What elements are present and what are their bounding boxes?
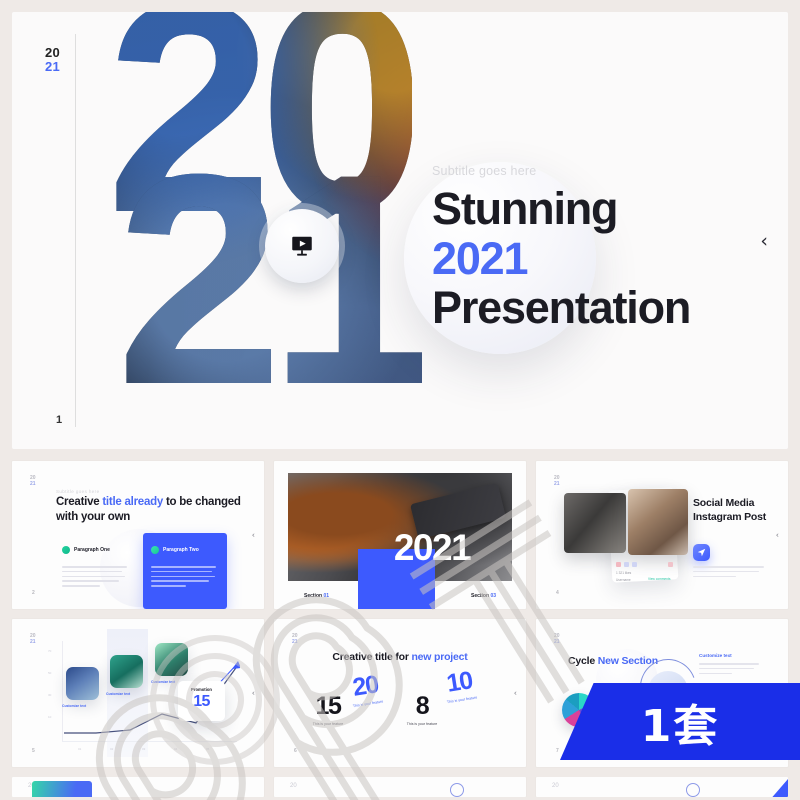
bullet-dot-icon: [151, 546, 159, 554]
hero-text-block: Subtitle goes here Stunning 2021 Present…: [432, 164, 762, 333]
hero-year-mark: 20 21: [45, 46, 60, 73]
card-heading: Paragraph Two: [163, 547, 199, 553]
chart-x-tick: 03: [142, 747, 145, 751]
chart-callout-card: Promotion 15: [178, 681, 225, 721]
hero-subtitle: Subtitle goes here: [432, 164, 762, 178]
slide-year-mark: 20 21: [30, 634, 36, 645]
hero-title-accent: 2021: [432, 234, 762, 284]
stat-caption: This is your feature: [400, 722, 444, 726]
slide-body-lines: [693, 566, 765, 580]
slide-title-part-a: Creative: [56, 496, 102, 508]
slide-prev-arrow-icon[interactable]: ‹: [514, 689, 517, 698]
slide-year-bottom: 21: [554, 640, 560, 646]
slide-title: Cycle New Section: [568, 655, 658, 669]
section-left-number: 01: [323, 593, 329, 599]
slide-eyebrow: Subtitle goes here: [56, 489, 99, 494]
slide-year-mark: 20 21: [292, 634, 298, 645]
comment-icon: [624, 562, 629, 567]
post-view-comments-link[interactable]: View comments: [648, 577, 670, 581]
slide-prev-arrow-icon[interactable]: ‹: [252, 531, 255, 540]
stat-value: 20: [342, 672, 389, 702]
chart-x-tick: 05: [206, 747, 209, 751]
post-likes: 1 321 likes: [616, 571, 631, 575]
slide-growth-chart[interactable]: 20 21 70 50 30 10 01 02 03 04 05: [12, 619, 264, 767]
hero-year-top: 20: [45, 46, 60, 60]
hero-title: Stunning 2021 Presentation: [432, 184, 762, 333]
chart-x-tick: 02: [110, 747, 113, 751]
slide-next-row-c[interactable]: 20: [536, 777, 788, 797]
slide-body-lines: [699, 663, 761, 677]
ring-shape: [686, 783, 700, 797]
hero-year-bottom: 21: [45, 60, 60, 74]
paragraph-card-two[interactable]: Paragraph Two: [143, 533, 227, 609]
blue-corner-shape: [762, 779, 788, 797]
hero-title-line-1: Stunning: [432, 184, 762, 234]
share-icon: [632, 562, 637, 567]
stat-value: 8: [400, 695, 444, 719]
post-action-icons: [616, 562, 676, 567]
chart-thumb-3: [155, 643, 188, 676]
hero-title-line-3: Presentation: [432, 283, 762, 333]
card-body-lines: [62, 566, 130, 587]
chart-x-tick: 01: [78, 747, 81, 751]
paragraph-card-one[interactable]: Paragraph One: [54, 533, 138, 598]
card-body-lines: [151, 566, 219, 587]
slide-title-accent: title already: [102, 496, 163, 508]
chart-x-tick: 04: [174, 747, 177, 751]
slide-photo-2021[interactable]: 2021 Section 01 Section 03: [274, 461, 526, 609]
chart-thumb-1: [66, 667, 99, 700]
stat-caption: This is your feature: [306, 722, 350, 726]
hero-page-number: 1: [56, 414, 62, 426]
section-left-label: Section: [304, 593, 322, 599]
slide-prev-arrow-icon[interactable]: ‹: [776, 531, 779, 540]
slide-title: Creative title already to be changed wit…: [56, 495, 241, 525]
slide-section-footer: Section 01 Section 03: [274, 593, 526, 599]
slide-social-media[interactable]: 20 21 Preview 1 321 likes Username View …: [536, 461, 788, 609]
slide-page-number: 4: [556, 590, 559, 596]
card-heading: Paragraph One: [74, 547, 110, 553]
slide-page-number: 7: [556, 748, 559, 754]
heart-icon: [616, 562, 621, 567]
stat-item: 10 This is your feature: [436, 668, 484, 706]
hero-numeral-21: 21: [116, 162, 422, 396]
chart-thumb-2: [110, 655, 143, 688]
chart-thumb-label-2: Customize text: [106, 692, 130, 696]
slide-year-mark: 20: [552, 783, 559, 789]
stat-value: 15: [306, 695, 350, 719]
slide-year-bottom: 21: [30, 482, 36, 488]
post-username: Username: [616, 578, 631, 582]
post-photo-right: [628, 489, 688, 555]
post-photo-left: [564, 493, 626, 553]
slide-big-number: 2021: [352, 529, 512, 566]
ppt-template-preview-page: 20 21 1 20 21 Subtitle goes here Stunnin…: [0, 0, 800, 800]
stat-item: 15 This is your feature: [306, 695, 350, 726]
slide-next-row-b[interactable]: 20: [274, 777, 526, 797]
chart-thumb-label-1: Customize text: [62, 704, 86, 708]
slide-title: Social Media Instagram Post: [693, 497, 775, 525]
slide-title-part-a: Creative title for: [332, 651, 411, 663]
slide-row: 20 21 Subtitle goes here Creative title …: [12, 461, 788, 609]
section-right-number: 03: [490, 593, 496, 599]
ring-shape: [450, 783, 464, 797]
slide-year-mark: 20 21: [30, 476, 36, 487]
slide-title: Creative title for new project: [274, 651, 526, 663]
chart-y-tick: 50: [48, 671, 51, 675]
slide-year-mark: 20: [290, 783, 297, 789]
chart-y-tick: 10: [48, 715, 51, 719]
slide-big-numbers[interactable]: 20 21 Creative title for new project 15 …: [274, 619, 526, 767]
section-right-label: Section: [471, 593, 489, 599]
slide-page-number: 6: [294, 748, 297, 754]
slide-year-mark: 20 21: [554, 634, 560, 645]
slide-title-part-a: Cycle: [568, 655, 598, 667]
promo-label: 1套: [641, 690, 720, 754]
slide-year-bottom: 21: [30, 640, 36, 646]
stat-item: 20 This is your feature: [342, 672, 390, 710]
slide-title-accent: new project: [411, 651, 467, 663]
chart-thumb-label-3: Customize text: [151, 680, 175, 684]
promo-banner: 1套: [560, 683, 800, 760]
slide-year-bottom: 21: [554, 482, 560, 488]
callout-value: 15: [178, 692, 225, 712]
hero-divider-rail: [75, 34, 76, 427]
customize-text-label: Customize text: [699, 653, 732, 658]
slide-year-bottom: 21: [292, 640, 298, 646]
presentation-play-icon: [265, 209, 339, 283]
bullet-dot-icon: [62, 546, 70, 554]
slide-year-mark: 20 21: [554, 476, 560, 487]
section-right: Section 03: [471, 593, 496, 599]
slide-prev-arrow-icon[interactable]: ‹: [252, 689, 255, 698]
slide-page-number: 2: [32, 590, 35, 596]
gradient-block: [32, 781, 92, 797]
stat-value: 10: [436, 668, 483, 698]
stat-item: 8 This is your feature: [400, 695, 444, 726]
send-icon: [693, 544, 710, 561]
slide-next-row-a[interactable]: 20: [12, 777, 264, 797]
slide-page-number: 5: [32, 748, 35, 754]
chart-y-tick: 30: [48, 693, 51, 697]
bookmark-icon: [668, 562, 673, 567]
section-left: Section 01: [304, 593, 329, 599]
hero-slide[interactable]: 20 21 1 20 21 Subtitle goes here Stunnin…: [12, 12, 788, 449]
chart-y-tick: 70: [48, 649, 51, 653]
slide-row-clipped: 20 20 20: [12, 777, 788, 797]
slide-creative-title[interactable]: 20 21 Subtitle goes here Creative title …: [12, 461, 264, 609]
